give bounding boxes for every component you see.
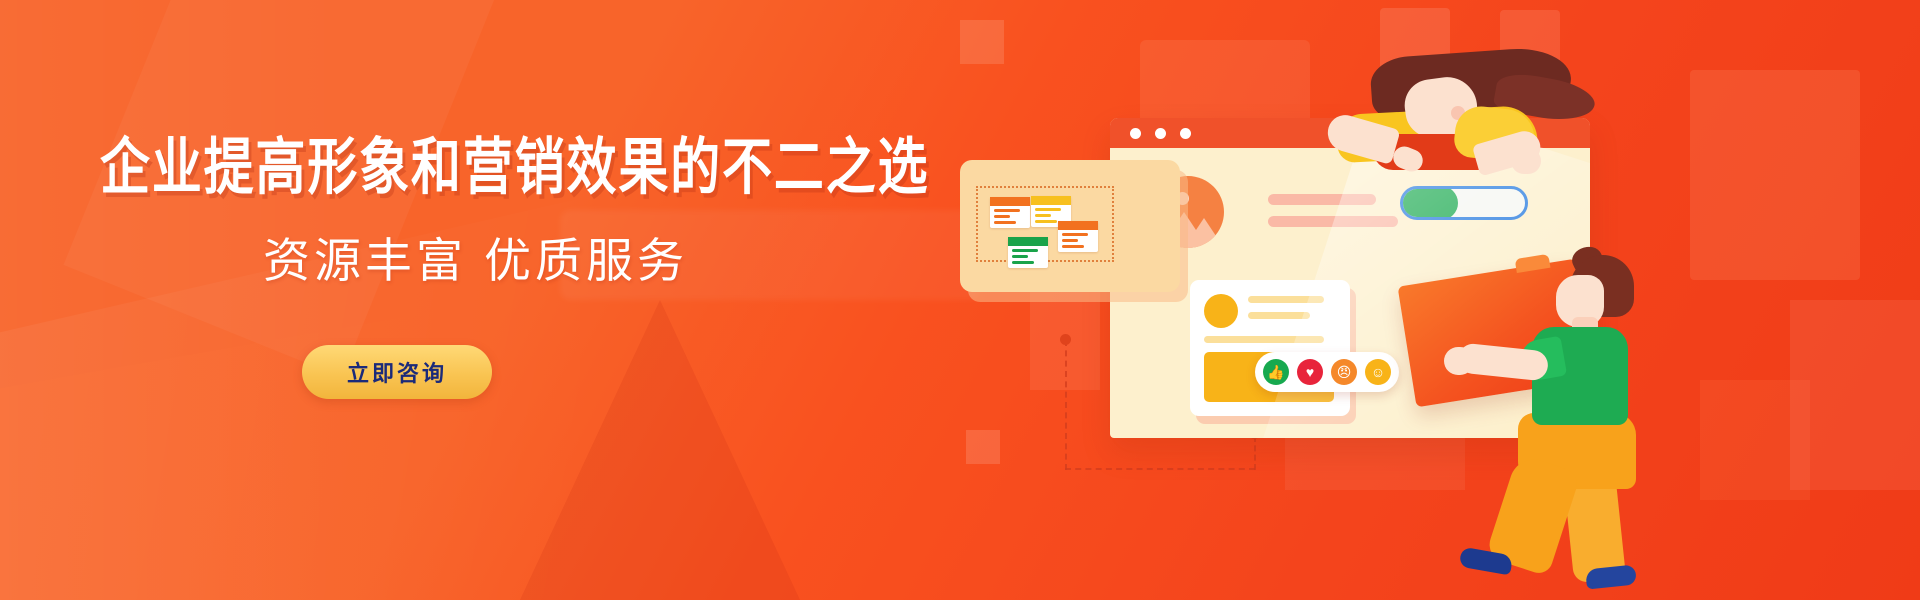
node-line-2	[1012, 255, 1028, 258]
node-line-1	[1062, 233, 1088, 236]
smile-icon[interactable]: ☺	[1365, 359, 1391, 385]
node-line-3	[1035, 220, 1057, 223]
node-line-3	[1062, 245, 1084, 248]
flowchart-card	[960, 160, 1180, 292]
node-line-1	[1012, 249, 1038, 252]
profile-card	[1190, 280, 1350, 416]
node-line-3	[994, 221, 1016, 224]
avatar	[1204, 294, 1238, 328]
card-line-1	[1248, 296, 1324, 303]
node-line-2	[1062, 239, 1078, 242]
dashed-connector-vertical-2	[1254, 436, 1256, 470]
node-line-1	[1035, 208, 1061, 211]
node-header	[990, 197, 1030, 206]
node-header	[1031, 196, 1071, 205]
angry-icon[interactable]: 😠	[1331, 359, 1357, 385]
node-header	[1058, 221, 1098, 230]
node-line-3	[1012, 261, 1034, 264]
connector-dot-start	[1060, 334, 1071, 345]
like-icon[interactable]: 👍	[1263, 359, 1289, 385]
window-dot-1-icon	[1130, 128, 1141, 139]
dashed-connector-horizontal	[1065, 468, 1255, 470]
love-icon[interactable]: ♥	[1297, 359, 1323, 385]
card-line-3	[1204, 336, 1324, 343]
node-line-1	[994, 209, 1020, 212]
node-line-2	[994, 215, 1010, 218]
consult-now-button[interactable]: 立即咨询	[302, 345, 492, 399]
hand-right-shape	[1511, 148, 1541, 174]
promo-banner: 企业提高形象和营销效果的不二之选 资源丰富 优质服务 立即咨询	[0, 0, 1920, 600]
person-woman-top	[1305, 48, 1585, 248]
node-green	[1008, 237, 1048, 268]
banner-headline: 企业提高形象和营销效果的不二之选	[100, 117, 929, 206]
node-line-2	[1035, 214, 1051, 217]
window-dot-3-icon	[1180, 128, 1191, 139]
card-line-2	[1248, 312, 1310, 319]
dashed-connector-vertical	[1065, 340, 1067, 470]
hand-shape	[1444, 347, 1474, 375]
node-header	[1008, 237, 1048, 246]
node-orange	[990, 197, 1030, 228]
mountain-shape-2	[1184, 218, 1224, 248]
banner-copy: 企业提高形象和营销效果的不二之选 资源丰富 优质服务 立即咨询	[0, 0, 900, 600]
person-man-carrying-folder	[1400, 255, 1690, 575]
reaction-bar: 👍 ♥ 😠 ☺	[1255, 352, 1399, 392]
banner-subheadline: 资源丰富 优质服务	[263, 222, 688, 291]
window-dot-2-icon	[1155, 128, 1166, 139]
node-orange-2	[1058, 221, 1098, 252]
